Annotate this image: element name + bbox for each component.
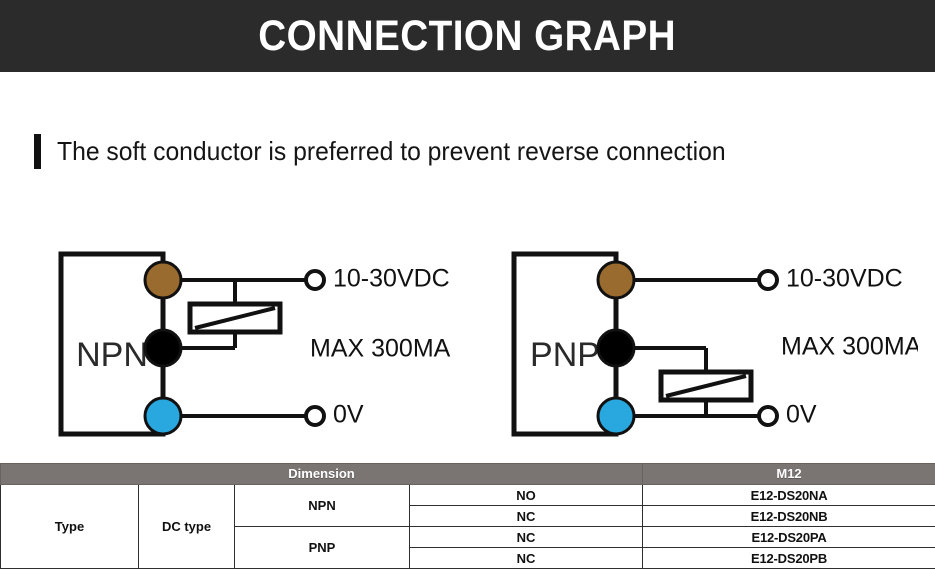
pnp-supply-terminal bbox=[759, 271, 777, 289]
cell-part-number: E12-DS20PB bbox=[643, 548, 935, 569]
cell-contact: NC bbox=[410, 548, 643, 569]
cell-contact: NC bbox=[410, 527, 643, 548]
table-row: Type DC type NPN NO E12-DS20NA bbox=[1, 485, 935, 506]
subtitle-text: The soft conductor is preferred to preve… bbox=[57, 136, 726, 167]
pnp-body-label: PNP bbox=[530, 336, 600, 374]
subtitle-accent-bar bbox=[34, 134, 41, 169]
cell-part-number: E12-DS20NA bbox=[643, 485, 935, 506]
cell-mode-npn: NPN bbox=[235, 485, 410, 527]
npn-body-label: NPN bbox=[76, 336, 148, 374]
npn-ground-label: 0V bbox=[333, 401, 364, 429]
header-cell-dimension: Dimension bbox=[1, 464, 643, 485]
header-cell-size: M12 bbox=[643, 464, 935, 485]
pnp-supply-label: 10-30VDC bbox=[786, 265, 903, 293]
cell-contact: NC bbox=[410, 506, 643, 527]
npn-blue-wire-dot bbox=[145, 398, 181, 434]
npn-supply-label: 10-30VDC bbox=[333, 265, 450, 293]
pnp-blue-wire-dot bbox=[598, 398, 634, 434]
model-selection-table: Dimension M12 Type DC type NPN NO E12-DS… bbox=[0, 463, 935, 569]
npn-ground-terminal bbox=[306, 407, 324, 425]
npn-output-label: MAX 300MA bbox=[310, 335, 451, 363]
pnp-black-wire-dot bbox=[598, 330, 634, 366]
pnp-brown-wire-dot bbox=[598, 262, 634, 298]
cell-dc-type: DC type bbox=[139, 485, 235, 569]
npn-black-wire-dot bbox=[145, 330, 181, 366]
connection-diagrams: NPN 10-30VDC MAX 300MA 0V PNP bbox=[0, 232, 935, 454]
npn-supply-terminal bbox=[306, 271, 324, 289]
header-bar: CONNECTION GRAPH bbox=[0, 0, 935, 72]
cell-mode-pnp: PNP bbox=[235, 527, 410, 569]
cell-contact: NO bbox=[410, 485, 643, 506]
cell-type: Type bbox=[1, 485, 139, 569]
npn-brown-wire-dot bbox=[145, 262, 181, 298]
pnp-wiring-diagram: PNP 10-30VDC MAX 300MA 0V bbox=[498, 232, 918, 454]
subtitle: The soft conductor is preferred to preve… bbox=[34, 134, 761, 169]
cell-part-number: E12-DS20NB bbox=[643, 506, 935, 527]
pnp-output-label: MAX 300MA bbox=[781, 333, 918, 361]
cell-part-number: E12-DS20PA bbox=[643, 527, 935, 548]
pnp-ground-label: 0V bbox=[786, 401, 817, 429]
page-title: CONNECTION GRAPH bbox=[259, 12, 677, 61]
npn-wiring-diagram: NPN 10-30VDC MAX 300MA 0V bbox=[45, 232, 465, 454]
table-header-row: Dimension M12 bbox=[1, 464, 935, 485]
pnp-ground-terminal bbox=[759, 407, 777, 425]
